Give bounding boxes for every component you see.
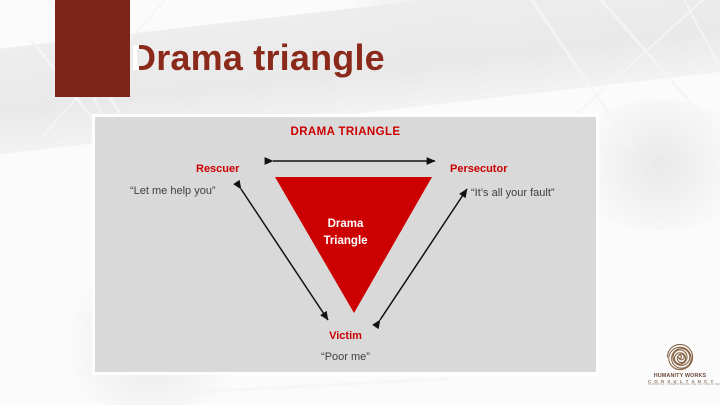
role-quote-victim: “Poor me” — [95, 351, 596, 363]
slide-canvas: Drama triangle Drama triangle DRAMA TRIA… — [0, 0, 720, 405]
role-label-rescuer: Rescuer — [196, 163, 239, 175]
role-label-victim: Victim — [95, 330, 596, 342]
background-streak — [647, 0, 720, 91]
drama-triangle-diagram: DRAMA TRIANGLE — [95, 117, 596, 372]
page-title: Drama triangle Drama triangle — [130, 40, 385, 76]
background-streak — [150, 377, 450, 396]
company-logo: HUMANITY WORKS C O N S U L T A N C Y PRO… — [648, 342, 712, 396]
role-quote-rescuer: “Let me help you” — [130, 185, 216, 197]
drama-triangle-shape — [275, 177, 432, 313]
title-accent-square — [55, 0, 130, 97]
role-quote-persecutor: “It’s all your fault” — [471, 187, 555, 199]
background-streak — [520, 0, 719, 136]
spiral-icon — [663, 342, 697, 372]
role-label-persecutor: Persecutor — [450, 163, 507, 175]
diagram-panel: DRAMA TRIANGLE — [95, 117, 596, 372]
logo-tagline: PROMOTING | UNDERSTANDING THE CULTURE OF… — [648, 384, 712, 386]
page-title-text: Drama triangle — [130, 37, 385, 78]
